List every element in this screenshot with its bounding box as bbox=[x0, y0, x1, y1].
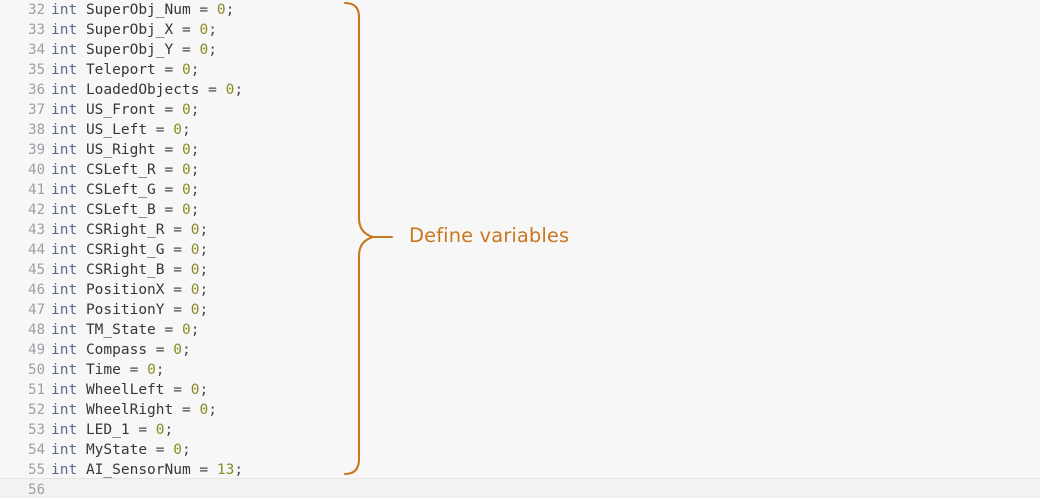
token-number: 0 bbox=[182, 202, 191, 218]
line-content: int TM_State = 0; bbox=[45, 320, 199, 340]
line-number: 37 bbox=[0, 100, 45, 120]
token-identifier: SuperObj_X bbox=[86, 22, 173, 38]
token-identifier: CSRight_B bbox=[86, 262, 165, 278]
token-identifier: MyState bbox=[86, 442, 147, 458]
code-line[interactable]: 55int AI_SensorNum = 13; bbox=[0, 460, 1040, 480]
token-keyword: int bbox=[51, 162, 77, 178]
token-keyword: int bbox=[51, 422, 77, 438]
token-operator: = bbox=[130, 422, 156, 438]
token-keyword: int bbox=[51, 242, 77, 258]
token-semicolon: ; bbox=[208, 22, 217, 38]
code-line[interactable]: 37int US_Front = 0; bbox=[0, 100, 1040, 120]
token-operator: = bbox=[165, 242, 191, 258]
token-number: 13 bbox=[217, 462, 234, 478]
token-operator: = bbox=[165, 282, 191, 298]
token-semicolon: ; bbox=[165, 422, 174, 438]
token-number: 0 bbox=[182, 322, 191, 338]
code-line[interactable]: 45int CSRight_B = 0; bbox=[0, 260, 1040, 280]
token-semicolon: ; bbox=[156, 362, 165, 378]
token-semicolon: ; bbox=[199, 382, 208, 398]
token-operator: = bbox=[173, 42, 199, 58]
token-semicolon: ; bbox=[199, 282, 208, 298]
token-semicolon: ; bbox=[182, 342, 191, 358]
token-keyword: int bbox=[51, 62, 77, 78]
token-number: 0 bbox=[173, 122, 182, 138]
line-number: 48 bbox=[0, 320, 45, 340]
token-identifier: US_Left bbox=[86, 122, 147, 138]
line-number: 36 bbox=[0, 80, 45, 100]
token-identifier: LED_1 bbox=[86, 422, 130, 438]
token-semicolon: ; bbox=[208, 402, 217, 418]
token-semicolon: ; bbox=[234, 462, 243, 478]
token-keyword: int bbox=[51, 202, 77, 218]
code-line[interactable]: 52int WheelRight = 0; bbox=[0, 400, 1040, 420]
code-line[interactable]: 32int SuperObj_Num = 0; bbox=[0, 0, 1040, 20]
token-number: 0 bbox=[199, 22, 208, 38]
line-number: 53 bbox=[0, 420, 45, 440]
token-operator: = bbox=[147, 442, 173, 458]
token-keyword: int bbox=[51, 182, 77, 198]
token-identifier: CSRight_R bbox=[86, 222, 165, 238]
line-content: int PositionY = 0; bbox=[45, 300, 208, 320]
token-number: 0 bbox=[217, 2, 226, 18]
token-number: 0 bbox=[173, 342, 182, 358]
token-semicolon: ; bbox=[191, 202, 200, 218]
line-content: int CSLeft_B = 0; bbox=[45, 200, 199, 220]
line-number: 44 bbox=[0, 240, 45, 260]
token-operator: = bbox=[156, 142, 182, 158]
token-number: 0 bbox=[199, 402, 208, 418]
token-semicolon: ; bbox=[191, 162, 200, 178]
token-identifier: CSLeft_B bbox=[86, 202, 156, 218]
token-keyword: int bbox=[51, 282, 77, 298]
token-keyword: int bbox=[51, 102, 77, 118]
token-operator: = bbox=[173, 402, 199, 418]
line-number: 40 bbox=[0, 160, 45, 180]
line-number: 50 bbox=[0, 360, 45, 380]
token-number: 0 bbox=[173, 442, 182, 458]
token-identifier: CSLeft_G bbox=[86, 182, 156, 198]
code-line-empty[interactable]: 56 bbox=[0, 479, 1040, 498]
token-keyword: int bbox=[51, 42, 77, 58]
line-number: 43 bbox=[0, 220, 45, 240]
line-number: 38 bbox=[0, 120, 45, 140]
token-operator: = bbox=[156, 62, 182, 78]
line-content: int CSLeft_G = 0; bbox=[45, 180, 199, 200]
token-identifier: SuperObj_Num bbox=[86, 2, 191, 18]
code-line[interactable]: 53int LED_1 = 0; bbox=[0, 420, 1040, 440]
code-line[interactable]: 48int TM_State = 0; bbox=[0, 320, 1040, 340]
line-number: 39 bbox=[0, 140, 45, 160]
code-line[interactable]: 42int CSLeft_B = 0; bbox=[0, 200, 1040, 220]
token-operator: = bbox=[147, 342, 173, 358]
line-content: int SuperObj_Y = 0; bbox=[45, 40, 217, 60]
token-identifier: CSLeft_R bbox=[86, 162, 156, 178]
line-number: 45 bbox=[0, 260, 45, 280]
code-screenshot: 32int SuperObj_Num = 0;33int SuperObj_X … bbox=[0, 0, 1040, 498]
line-content: int CSRight_R = 0; bbox=[45, 220, 208, 240]
token-semicolon: ; bbox=[199, 222, 208, 238]
line-content: int WheelRight = 0; bbox=[45, 400, 217, 420]
code-line[interactable]: 46int PositionX = 0; bbox=[0, 280, 1040, 300]
line-content: int Compass = 0; bbox=[45, 340, 191, 360]
token-keyword: int bbox=[51, 402, 77, 418]
token-number: 0 bbox=[182, 142, 191, 158]
token-operator: = bbox=[191, 462, 217, 478]
token-keyword: int bbox=[51, 462, 77, 478]
line-content: int PositionX = 0; bbox=[45, 280, 208, 300]
token-operator: = bbox=[165, 222, 191, 238]
token-keyword: int bbox=[51, 342, 77, 358]
code-line[interactable]: 49int Compass = 0; bbox=[0, 340, 1040, 360]
code-line[interactable]: 43int CSRight_R = 0; bbox=[0, 220, 1040, 240]
token-semicolon: ; bbox=[191, 102, 200, 118]
line-content: int US_Left = 0; bbox=[45, 120, 191, 140]
token-identifier: WheelRight bbox=[86, 402, 173, 418]
token-identifier: Compass bbox=[86, 342, 147, 358]
token-identifier: CSRight_G bbox=[86, 242, 165, 258]
line-number: 46 bbox=[0, 280, 45, 300]
token-identifier: PositionY bbox=[86, 302, 165, 318]
token-identifier: AI_SensorNum bbox=[86, 462, 191, 478]
token-identifier: US_Right bbox=[86, 142, 156, 158]
token-semicolon: ; bbox=[191, 62, 200, 78]
token-keyword: int bbox=[51, 122, 77, 138]
line-number: 49 bbox=[0, 340, 45, 360]
line-number: 54 bbox=[0, 440, 45, 460]
token-semicolon: ; bbox=[182, 442, 191, 458]
line-content: int CSRight_B = 0; bbox=[45, 260, 208, 280]
line-content: int Teleport = 0; bbox=[45, 60, 199, 80]
token-operator: = bbox=[156, 182, 182, 198]
token-semicolon: ; bbox=[182, 122, 191, 138]
token-keyword: int bbox=[51, 22, 77, 38]
token-keyword: int bbox=[51, 142, 77, 158]
code-line[interactable]: 33int SuperObj_X = 0; bbox=[0, 20, 1040, 40]
line-content: int LED_1 = 0; bbox=[45, 420, 173, 440]
token-number: 0 bbox=[182, 162, 191, 178]
token-keyword: int bbox=[51, 262, 77, 278]
token-identifier: LoadedObjects bbox=[86, 82, 200, 98]
line-number: 47 bbox=[0, 300, 45, 320]
line-content: int WheelLeft = 0; bbox=[45, 380, 208, 400]
code-line[interactable]: 51int WheelLeft = 0; bbox=[0, 380, 1040, 400]
line-number: 56 bbox=[0, 481, 45, 498]
line-number: 41 bbox=[0, 180, 45, 200]
token-operator: = bbox=[156, 322, 182, 338]
token-number: 0 bbox=[199, 42, 208, 58]
token-identifier: US_Front bbox=[86, 102, 156, 118]
line-content: int CSLeft_R = 0; bbox=[45, 160, 199, 180]
token-operator: = bbox=[121, 362, 147, 378]
token-identifier: WheelLeft bbox=[86, 382, 165, 398]
line-number: 52 bbox=[0, 400, 45, 420]
token-operator: = bbox=[156, 162, 182, 178]
line-content: int US_Right = 0; bbox=[45, 140, 199, 160]
line-content: int SuperObj_Num = 0; bbox=[45, 0, 234, 20]
token-semicolon: ; bbox=[226, 2, 235, 18]
token-semicolon: ; bbox=[208, 42, 217, 58]
token-keyword: int bbox=[51, 442, 77, 458]
token-identifier: PositionX bbox=[86, 282, 165, 298]
token-number: 0 bbox=[182, 182, 191, 198]
token-keyword: int bbox=[51, 302, 77, 318]
token-semicolon: ; bbox=[191, 142, 200, 158]
code-line[interactable]: 39int US_Right = 0; bbox=[0, 140, 1040, 160]
code-line[interactable]: 44int CSRight_G = 0; bbox=[0, 240, 1040, 260]
token-operator: = bbox=[156, 102, 182, 118]
token-operator: = bbox=[165, 382, 191, 398]
token-operator: = bbox=[156, 202, 182, 218]
code-line[interactable]: 41int CSLeft_G = 0; bbox=[0, 180, 1040, 200]
line-content: int SuperObj_X = 0; bbox=[45, 20, 217, 40]
code-line[interactable]: 54int MyState = 0; bbox=[0, 440, 1040, 460]
code-line[interactable]: 40int CSLeft_R = 0; bbox=[0, 160, 1040, 180]
line-number: 34 bbox=[0, 40, 45, 60]
code-line[interactable]: 35int Teleport = 0; bbox=[0, 60, 1040, 80]
line-content: int LoadedObjects = 0; bbox=[45, 80, 243, 100]
token-semicolon: ; bbox=[199, 302, 208, 318]
token-operator: = bbox=[173, 22, 199, 38]
token-operator: = bbox=[147, 122, 173, 138]
line-content: int US_Front = 0; bbox=[45, 100, 199, 120]
token-identifier: TM_State bbox=[86, 322, 156, 338]
token-identifier: Teleport bbox=[86, 62, 156, 78]
token-keyword: int bbox=[51, 382, 77, 398]
token-operator: = bbox=[165, 262, 191, 278]
token-semicolon: ; bbox=[199, 242, 208, 258]
token-keyword: int bbox=[51, 362, 77, 378]
token-semicolon: ; bbox=[191, 322, 200, 338]
token-semicolon: ; bbox=[191, 182, 200, 198]
token-keyword: int bbox=[51, 222, 77, 238]
token-number: 0 bbox=[182, 62, 191, 78]
code-line[interactable]: 34int SuperObj_Y = 0; bbox=[0, 40, 1040, 60]
line-number: 55 bbox=[0, 460, 45, 480]
token-keyword: int bbox=[51, 82, 77, 98]
line-content: int AI_SensorNum = 13; bbox=[45, 460, 243, 480]
code-line[interactable]: 38int US_Left = 0; bbox=[0, 120, 1040, 140]
code-line[interactable]: 47int PositionY = 0; bbox=[0, 300, 1040, 320]
token-operator: = bbox=[199, 82, 225, 98]
line-number: 42 bbox=[0, 200, 45, 220]
token-operator: = bbox=[191, 2, 217, 18]
code-line-list[interactable]: 32int SuperObj_Num = 0;33int SuperObj_X … bbox=[0, 0, 1040, 480]
token-identifier: SuperObj_Y bbox=[86, 42, 173, 58]
token-operator: = bbox=[165, 302, 191, 318]
line-content: int Time = 0; bbox=[45, 360, 165, 380]
token-number: 0 bbox=[147, 362, 156, 378]
token-identifier: Time bbox=[86, 362, 121, 378]
line-content: int MyState = 0; bbox=[45, 440, 191, 460]
token-number: 0 bbox=[182, 102, 191, 118]
line-number: 32 bbox=[0, 0, 45, 20]
line-number: 35 bbox=[0, 60, 45, 80]
line-number: 33 bbox=[0, 20, 45, 40]
token-semicolon: ; bbox=[234, 82, 243, 98]
line-content: int CSRight_G = 0; bbox=[45, 240, 208, 260]
token-number: 0 bbox=[156, 422, 165, 438]
token-keyword: int bbox=[51, 2, 77, 18]
code-line[interactable]: 36int LoadedObjects = 0; bbox=[0, 80, 1040, 100]
token-semicolon: ; bbox=[199, 262, 208, 278]
line-number: 51 bbox=[0, 380, 45, 400]
code-editor[interactable]: 32int SuperObj_Num = 0;33int SuperObj_X … bbox=[0, 0, 1040, 498]
code-line[interactable]: 50int Time = 0; bbox=[0, 360, 1040, 380]
token-keyword: int bbox=[51, 322, 77, 338]
